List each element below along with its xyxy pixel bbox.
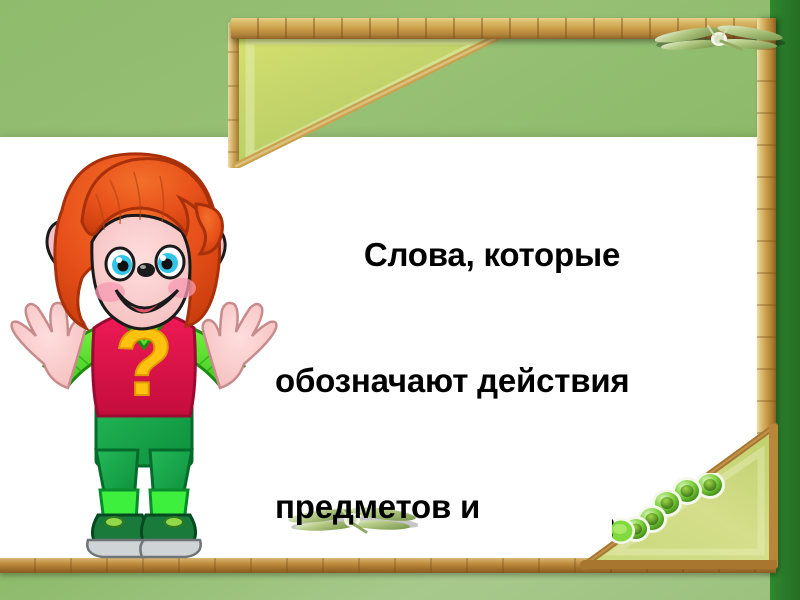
dragonfly-icon — [655, 18, 785, 71]
hedgehog-character-illustration: ? — [10, 150, 278, 570]
slide-canvas: ? — [0, 0, 800, 600]
text-line-2: обозначают действия — [275, 360, 755, 402]
slide-body-text: Слова, которые обозначают действия предм… — [275, 150, 755, 600]
text-line-3: предметов и — [275, 486, 755, 528]
bamboo-corner-top-left — [228, 20, 528, 168]
text-line-1: Слова, которые — [275, 234, 755, 276]
